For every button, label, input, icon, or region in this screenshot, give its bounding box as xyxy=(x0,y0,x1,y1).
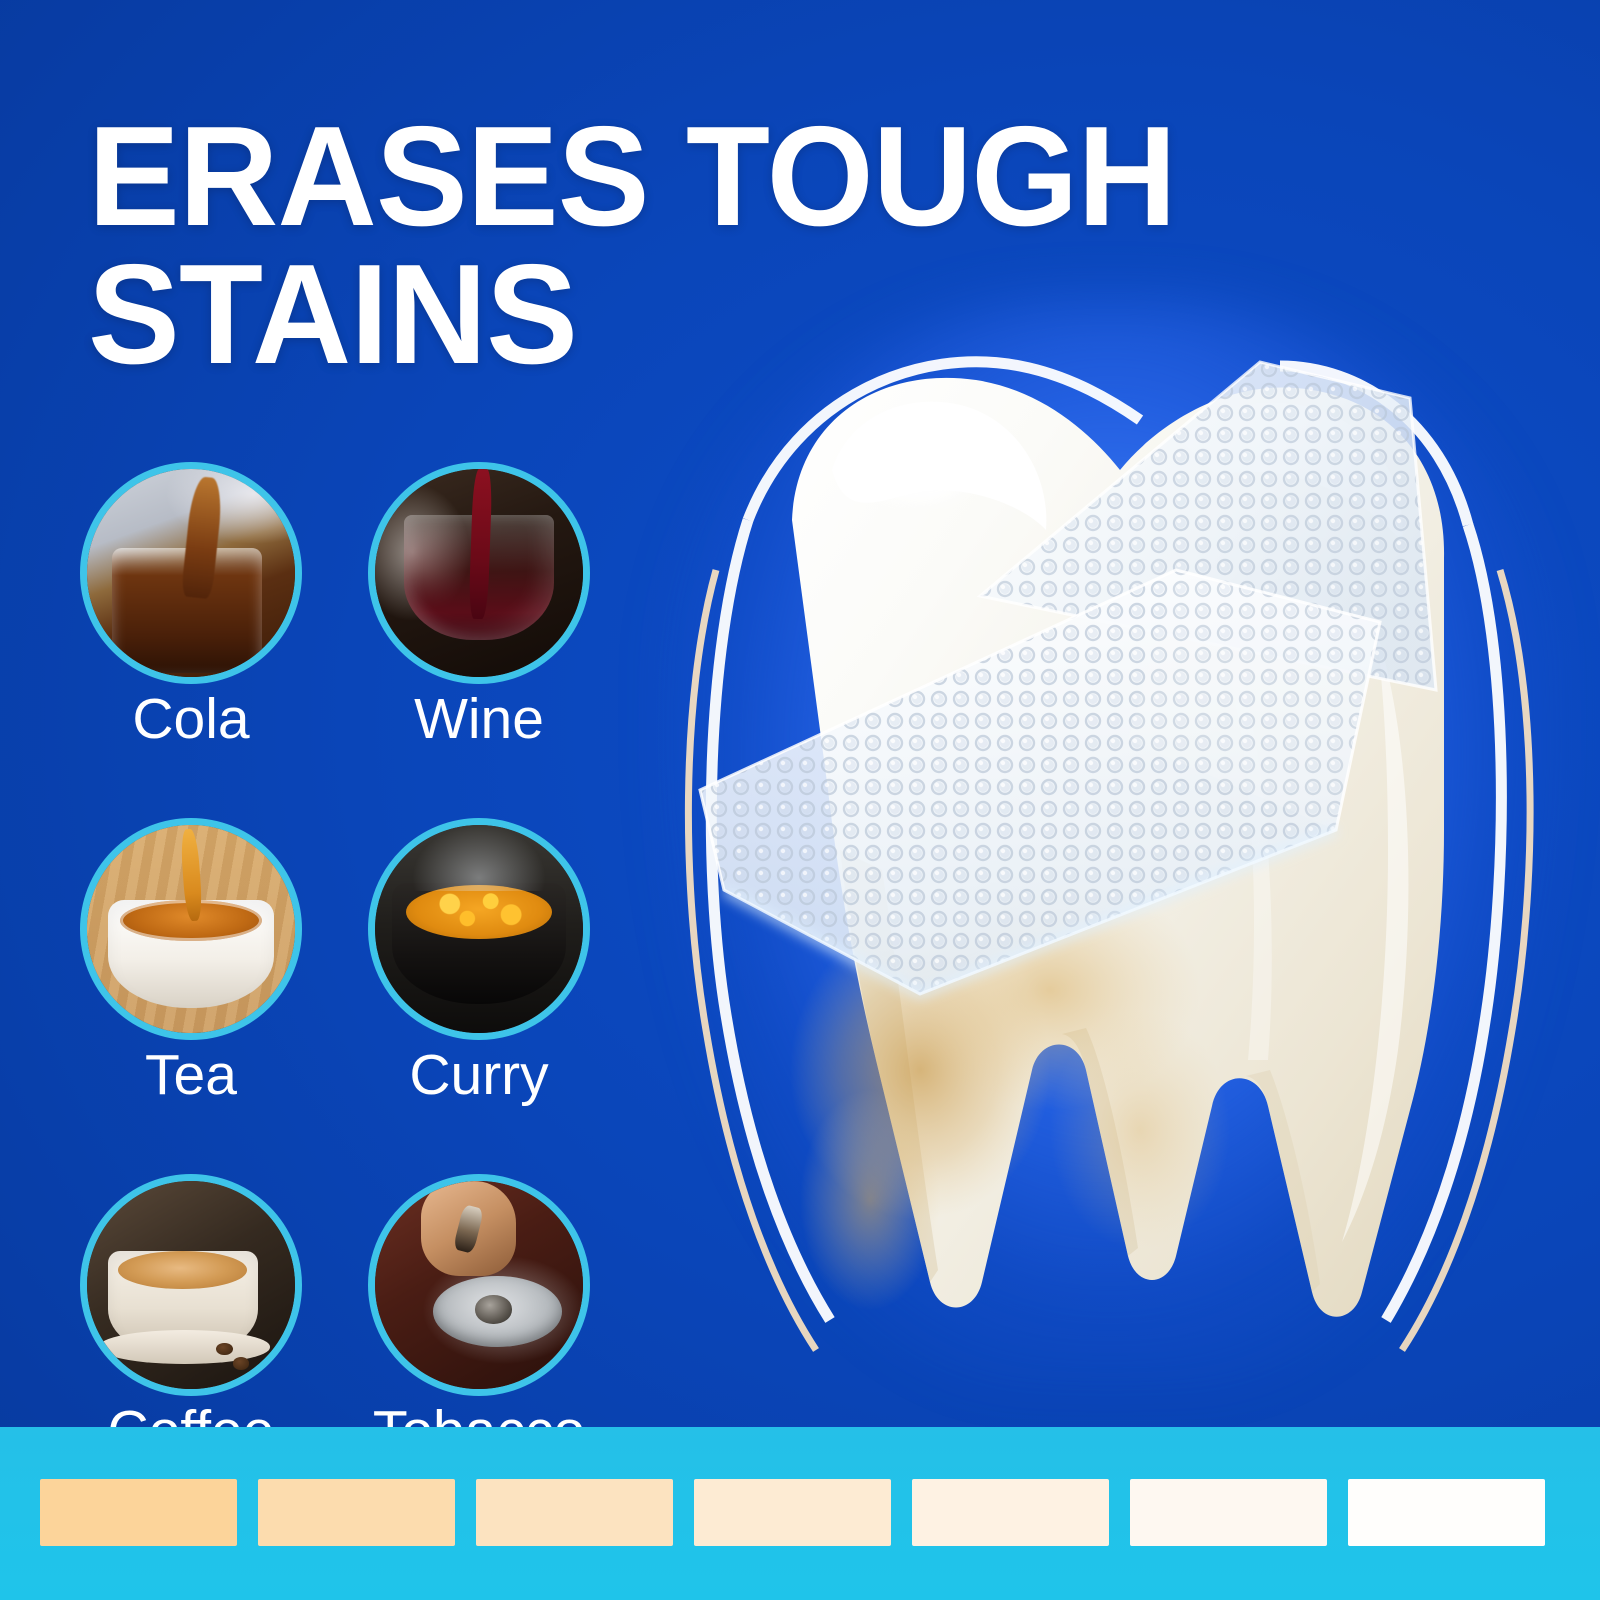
stain-thumbnail-curry xyxy=(368,818,590,1040)
tooth-stain-root xyxy=(800,1090,940,1310)
stain-item-curry[interactable]: Curry xyxy=(368,818,590,1108)
stain-item-cola[interactable]: Cola xyxy=(80,462,302,752)
coffee-bean-icon xyxy=(233,1357,250,1369)
stain-label-curry: Curry xyxy=(368,1044,590,1108)
shade-swatch-list xyxy=(40,1479,1545,1546)
ash-icon xyxy=(475,1295,512,1324)
stain-thumbnail-tea xyxy=(80,818,302,1040)
shade-swatch-4[interactable] xyxy=(694,1479,891,1546)
shade-swatch-3[interactable] xyxy=(476,1479,673,1546)
shade-guide-bar xyxy=(0,1427,1600,1600)
tooth-svg xyxy=(620,270,1600,1430)
hero-tooth-illustration xyxy=(620,270,1600,1430)
stain-item-coffee[interactable]: Coffee xyxy=(80,1174,302,1464)
stain-item-wine[interactable]: Wine xyxy=(368,462,590,752)
stain-item-tobacco[interactable]: Tobacco xyxy=(368,1174,590,1464)
stain-sources-grid: Cola Wine Tea xyxy=(80,462,640,1529)
stain-label-wine: Wine xyxy=(368,688,590,752)
shade-swatch-7[interactable] xyxy=(1348,1479,1545,1546)
stain-row: Cola Wine xyxy=(80,462,640,752)
stain-thumbnail-tobacco xyxy=(368,1174,590,1396)
shade-swatch-6[interactable] xyxy=(1130,1479,1327,1546)
stain-row: Tea Curry xyxy=(80,818,640,1108)
shade-swatch-5[interactable] xyxy=(912,1479,1109,1546)
tooth-outline-left xyxy=(688,570,816,1350)
wine-glass-icon xyxy=(375,469,583,677)
ad-banner: ERASES TOUGH STAINS xyxy=(0,0,1600,1600)
cola-glass-icon xyxy=(87,469,295,677)
stain-thumbnail-coffee xyxy=(80,1174,302,1396)
headline-line-1: ERASES TOUGH xyxy=(88,108,1368,246)
stain-label-cola: Cola xyxy=(80,688,302,752)
shade-swatch-1[interactable] xyxy=(40,1479,237,1546)
stain-thumbnail-wine xyxy=(368,462,590,684)
steam-icon xyxy=(412,825,545,892)
stain-item-tea[interactable]: Tea xyxy=(80,818,302,1108)
shade-swatch-2[interactable] xyxy=(258,1479,455,1546)
stain-thumbnail-cola xyxy=(80,462,302,684)
coffee-bean-icon xyxy=(216,1343,233,1355)
stain-row: Coffee Tobacco xyxy=(80,1174,640,1464)
stain-label-tea: Tea xyxy=(80,1044,302,1108)
